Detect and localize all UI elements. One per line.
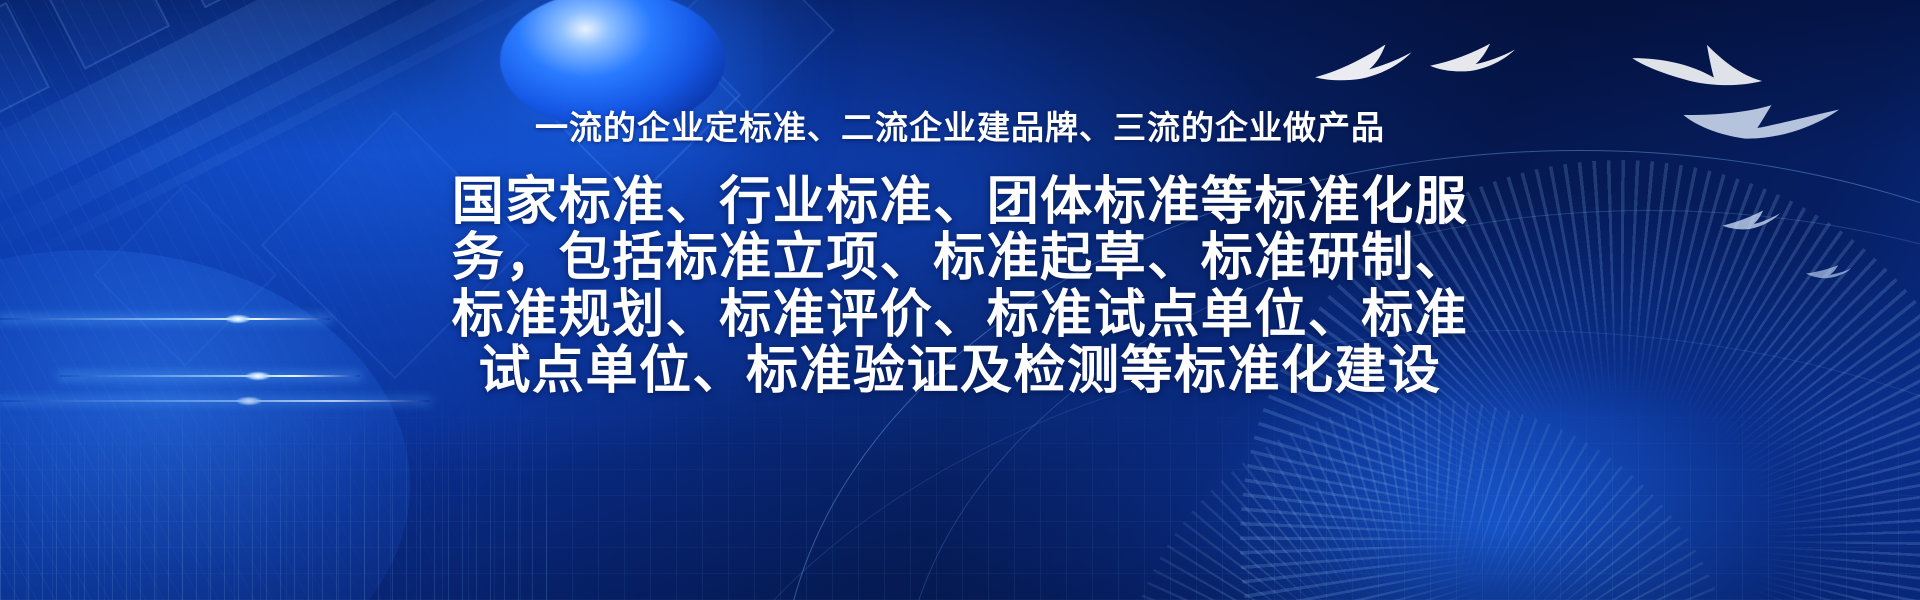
banner-body-line-3: 标准规划、标准评价、标准试点单位、标准 — [440, 287, 1480, 343]
promo-banner: 一流的企业定标准、二流企业建品牌、三流的企业做产品 国家标准、行业标准、团体标准… — [0, 0, 1920, 600]
banner-headline: 一流的企业定标准、二流企业建品牌、三流的企业做产品 — [535, 110, 1385, 146]
banner-text-container: 一流的企业定标准、二流企业建品牌、三流的企业做产品 国家标准、行业标准、团体标准… — [0, 0, 1920, 600]
banner-body-line-4: 试点单位、标准验证及检测等标准化建设 — [440, 343, 1480, 399]
banner-body-line-1: 国家标准、行业标准、团体标准等标准化服 — [440, 174, 1480, 230]
banner-body-line-2: 务，包括标准立项、标准起草、标准研制、 — [440, 230, 1480, 286]
banner-body-text: 国家标准、行业标准、团体标准等标准化服 务，包括标准立项、标准起草、标准研制、 … — [440, 174, 1480, 399]
